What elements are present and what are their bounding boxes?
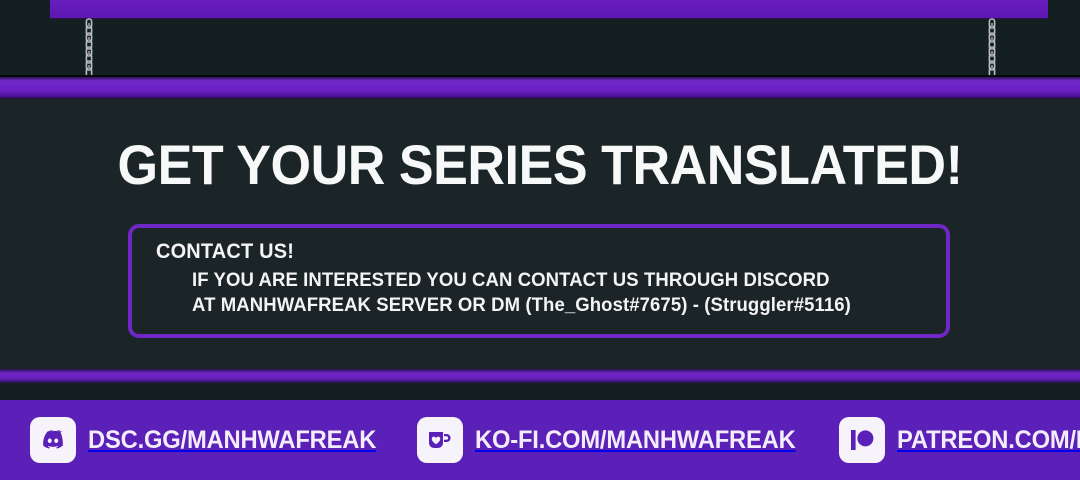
contact-box-body: IF YOU ARE INTERESTED YOU CAN CONTACT US… (192, 268, 886, 318)
chain-right (986, 18, 998, 78)
contact-line: IF YOU ARE INTERESTED YOU CAN CONTACT US… (192, 268, 851, 293)
page-title: GET YOUR SERIES TRANSLATED! (38, 132, 1042, 197)
social-label-patreon: PATREON.COM/MANHWAFREAK (897, 426, 1080, 455)
main-content: GET YOUR SERIES TRANSLATED! CONTACT US! … (0, 99, 1080, 369)
hanging-banner-panel (50, 0, 1048, 18)
chain-left (83, 18, 95, 78)
contact-box-title: CONTACT US! (156, 240, 294, 264)
social-link-discord[interactable]: DSC.GG/MANHWAFREAK (30, 417, 391, 463)
discord-icon (30, 417, 76, 463)
footer-social-bar: DSC.GG/MANHWAFREAK KO-FI.COM/MANHWAFREAK… (0, 400, 1080, 480)
social-label-kofi: KO-FI.COM/MANHWAFREAK (475, 426, 796, 455)
patreon-icon (839, 417, 885, 463)
chapter-end-banner: GET YOUR SERIES TRANSLATED! CONTACT US! … (0, 0, 1080, 480)
social-label-discord: DSC.GG/MANHWAFREAK (88, 426, 376, 455)
social-link-kofi[interactable]: KO-FI.COM/MANHWAFREAK (417, 417, 812, 463)
social-link-patreon[interactable]: PATREON.COM/MANHWAFREAK (839, 417, 1080, 463)
divider-bar-bottom (0, 369, 1080, 383)
divider-bar-top (0, 77, 1080, 99)
kofi-icon (417, 417, 463, 463)
contact-line: AT MANHWAFREAK SERVER OR DM (The_Ghost#7… (192, 293, 851, 318)
contact-box: CONTACT US! IF YOU ARE INTERESTED YOU CA… (128, 224, 950, 338)
